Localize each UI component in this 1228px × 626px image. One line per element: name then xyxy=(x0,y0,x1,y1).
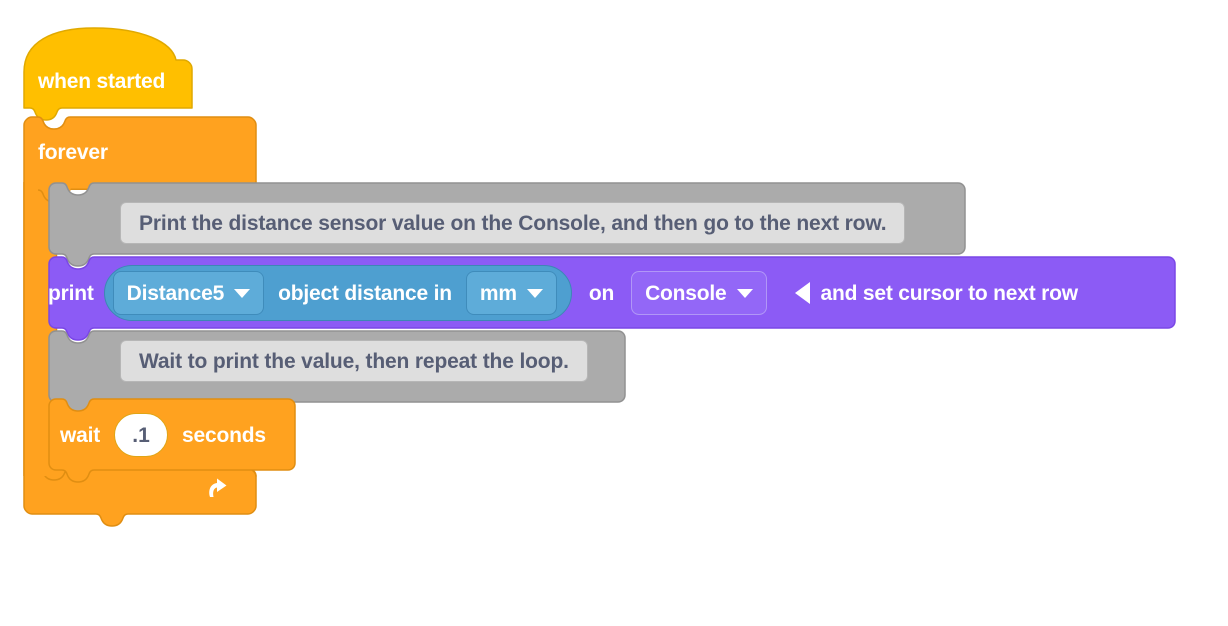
block-workspace[interactable]: when started forever xyxy=(0,0,1228,626)
print-block-content: print Distance5 object distance in mm on… xyxy=(48,262,1078,324)
comment-2-text: Wait to print the value, then repeat the… xyxy=(139,351,569,372)
sensor-device-dropdown[interactable]: Distance5 xyxy=(113,271,264,315)
when-started-label-wrap: when started xyxy=(38,71,165,92)
triangle-left-icon xyxy=(795,282,810,304)
comment-2-text-box[interactable]: Wait to print the value, then repeat the… xyxy=(120,340,588,382)
chevron-down-icon xyxy=(737,289,753,298)
print-suffix-label: and set cursor to next row xyxy=(821,283,1078,304)
chevron-down-icon xyxy=(527,289,543,298)
forever-label-wrap: forever xyxy=(38,142,108,163)
sensor-middle-label: object distance in xyxy=(278,283,452,304)
wait-duration-value: .1 xyxy=(132,425,150,446)
chevron-down-icon xyxy=(234,289,250,298)
print-target-dropdown[interactable]: Console xyxy=(631,271,766,315)
comment-1-text-box[interactable]: Print the distance sensor value on the C… xyxy=(120,202,905,244)
wait-label: wait xyxy=(60,425,100,446)
forever-label: forever xyxy=(38,142,108,163)
sensor-device-value: Distance5 xyxy=(127,283,224,304)
comment-1-text: Print the distance sensor value on the C… xyxy=(139,213,886,234)
sensor-unit-dropdown[interactable]: mm xyxy=(466,271,557,315)
distance-sensor-reporter[interactable]: Distance5 object distance in mm xyxy=(104,265,572,321)
wait-unit-label: seconds xyxy=(182,425,266,446)
loop-arrow-icon xyxy=(203,474,233,504)
sensor-unit-value: mm xyxy=(480,283,517,304)
wait-duration-input[interactable]: .1 xyxy=(114,413,168,457)
wait-block-content: wait .1 seconds xyxy=(48,404,266,466)
when-started-label: when started xyxy=(38,71,165,92)
print-on-label: on xyxy=(589,283,614,304)
print-target-value: Console xyxy=(645,283,726,304)
print-label: print xyxy=(48,283,94,304)
